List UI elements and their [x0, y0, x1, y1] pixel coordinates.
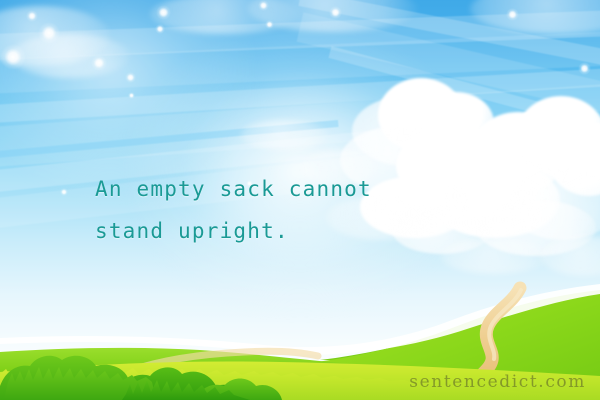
quote-text: An empty sack cannotstand upright. [95, 168, 535, 252]
quote-line-2: stand upright. [95, 219, 289, 243]
quote-wallpaper-image: An empty sack cannotstand upright. sente… [0, 0, 600, 400]
quote-line-1: An empty sack cannot [95, 177, 372, 201]
site-watermark: sentencedict.com [409, 372, 586, 392]
